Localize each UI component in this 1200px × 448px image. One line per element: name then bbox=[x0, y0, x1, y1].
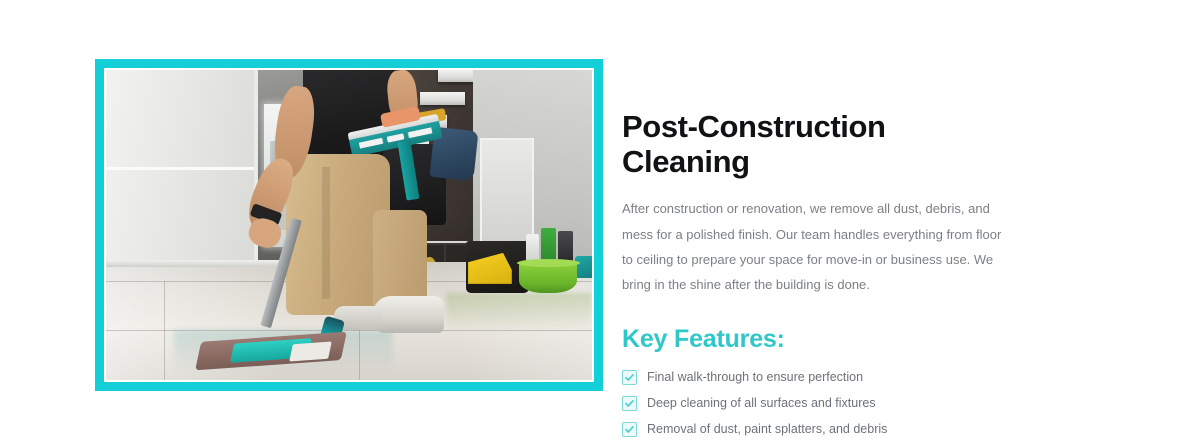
feature-label: Removal of dust, paint splatters, and de… bbox=[647, 422, 887, 437]
spray-bottle-black bbox=[558, 231, 573, 262]
door-frame-left bbox=[254, 70, 258, 287]
feature-list: Final walk-through to ensure perfection … bbox=[622, 370, 1014, 437]
worker-shoe-right bbox=[373, 296, 443, 333]
page-title: Post-Construction Cleaning bbox=[622, 110, 1014, 179]
teal-cloth bbox=[575, 256, 592, 278]
list-item: Final walk-through to ensure perfection bbox=[622, 370, 1014, 385]
service-section: Post-Construction Cleaning After constru… bbox=[0, 0, 1200, 444]
spray-bottle-white bbox=[526, 234, 539, 262]
checkbox-checked-icon bbox=[622, 396, 637, 411]
body-paragraph: After construction or renovation, we rem… bbox=[622, 196, 1004, 297]
photo-frame bbox=[95, 59, 603, 391]
green-bucket bbox=[519, 262, 577, 293]
text-column: Post-Construction Cleaning After constru… bbox=[622, 110, 1014, 448]
photo-inner-border bbox=[104, 68, 594, 382]
floor-reflection-supplies bbox=[446, 293, 592, 343]
spray-bottle-green bbox=[541, 228, 556, 262]
checkbox-checked-icon bbox=[622, 370, 637, 385]
feature-label: Final walk-through to ensure perfection bbox=[647, 370, 863, 385]
cleaning-photo bbox=[106, 70, 592, 380]
list-item: Removal of dust, paint splatters, and de… bbox=[622, 422, 1014, 437]
key-features-heading: Key Features: bbox=[622, 325, 1014, 354]
list-item: Deep cleaning of all surfaces and fixtur… bbox=[622, 396, 1014, 411]
mop-pad-white bbox=[289, 341, 331, 361]
feature-label: Deep cleaning of all surfaces and fixtur… bbox=[647, 396, 876, 411]
checkbox-checked-icon bbox=[622, 422, 637, 437]
wall-left bbox=[106, 70, 257, 281]
